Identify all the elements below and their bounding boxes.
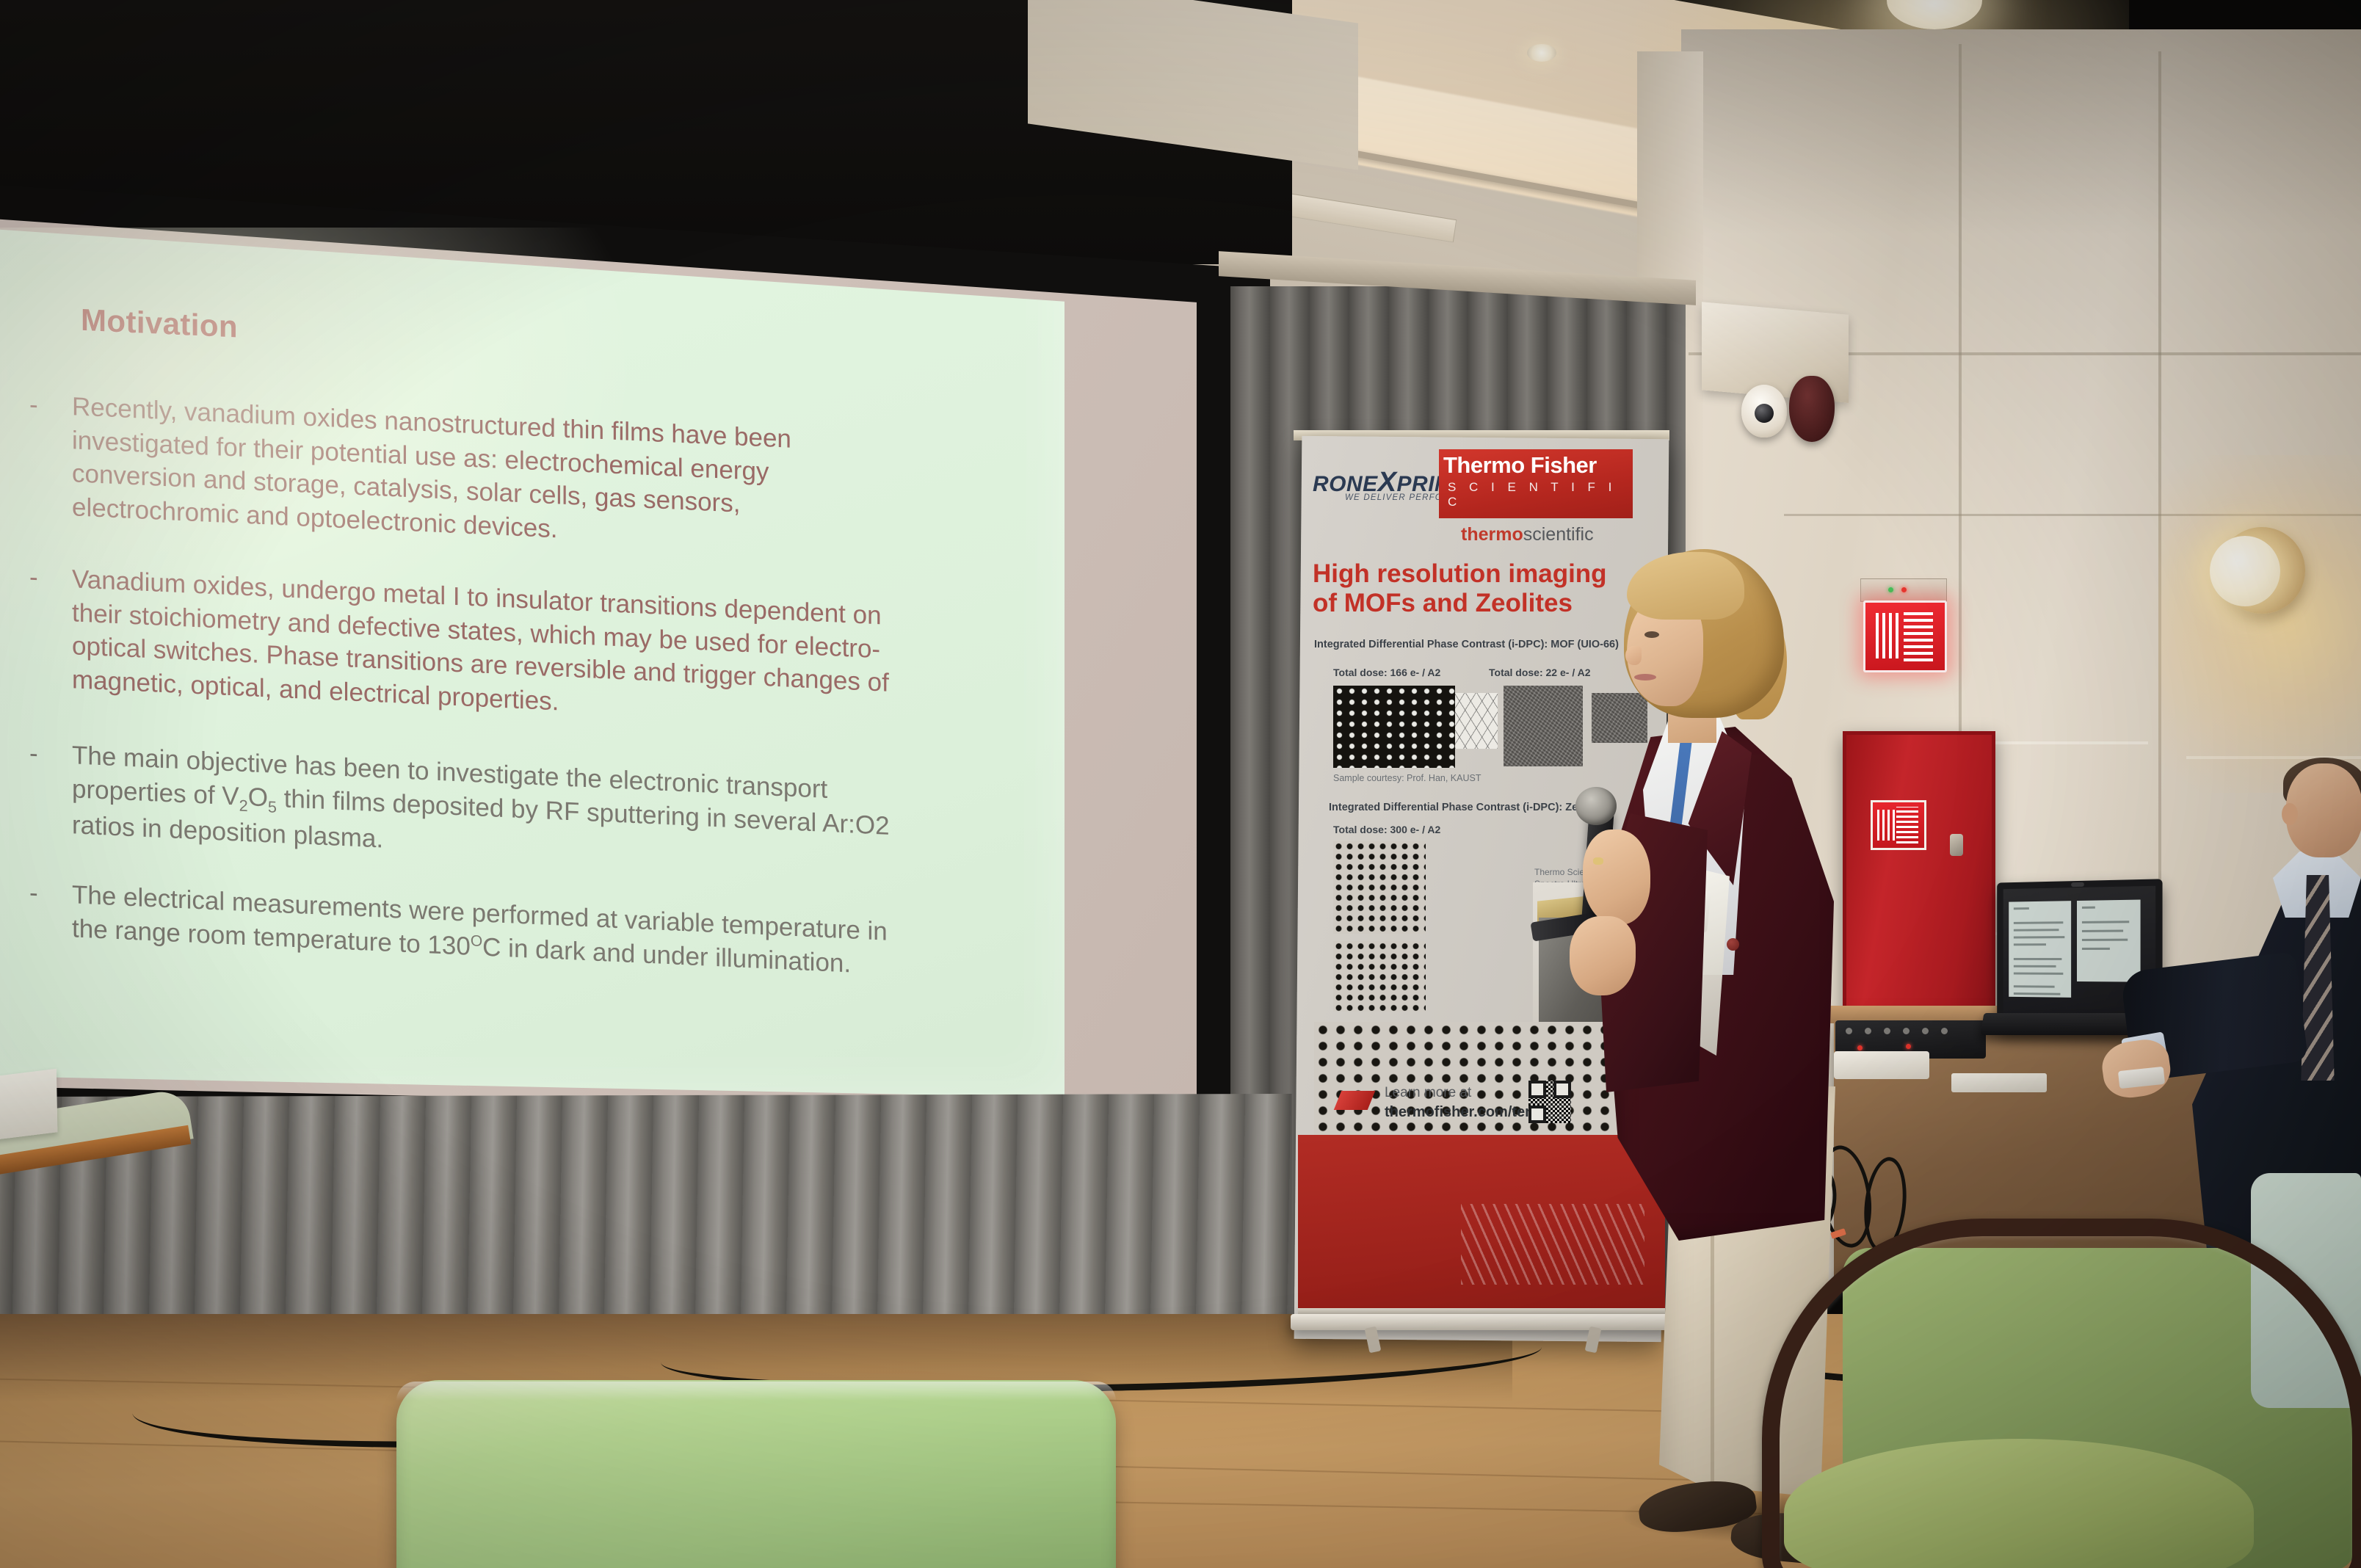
banner-section1-title: Integrated Differential Phase Contrast (…: [1314, 639, 1622, 650]
wall-sconce-icon: [2210, 536, 2280, 606]
speaker-nose: [1625, 646, 1642, 665]
thermofisher-scientific-line: S C I E N T I F I C: [1448, 480, 1631, 509]
wall-panel-seam: [1784, 514, 2361, 516]
jacket-button-icon: [1727, 938, 1739, 951]
bullet-text: The main objective has been to investiga…: [72, 738, 903, 879]
banner-cta-label: Learn more at: [1385, 1085, 1471, 1101]
slide-bullet-main-objective: - The main objective has been to investi…: [29, 737, 903, 879]
bullet-text: Vanadium oxides, undergo metal I to insu…: [72, 562, 892, 733]
speaker-hand-mic: [1583, 830, 1650, 925]
banner-section1-dose-left: Total dose: 166 e- / A2: [1333, 667, 1440, 678]
banner-section1-courtesy: Sample courtesy: Prof. Han, KAUST: [1333, 772, 1481, 785]
thermoscientific-wordmark: thermoscientific: [1461, 524, 1594, 545]
ceiling-light-fixture: [1887, 0, 1982, 29]
fire-hose-reel-sign-icon: [1863, 600, 1947, 672]
microphone-head-icon: [1575, 787, 1617, 825]
thermofisher-wordmark: Thermo Fisher: [1443, 452, 1628, 479]
banner-base-stand: [1291, 1314, 1672, 1330]
micrograph-mof-lowdose: [1504, 686, 1583, 766]
bullet-text: Recently, vanadium oxides nanostructured…: [72, 390, 874, 560]
bullet-text: The electrical measurements were perform…: [72, 878, 918, 983]
cabinet-fire-hose-pictogram-icon: [1871, 800, 1926, 850]
power-strip[interactable]: [1951, 1073, 2047, 1092]
foreground-chair-highlight: [396, 1382, 1116, 1401]
bullet-dash: -: [29, 561, 38, 595]
av-receiver-box: [1834, 1051, 1929, 1079]
wall-top-shadow: [1681, 29, 2361, 235]
wall-wainscot-line: [1982, 741, 2148, 744]
molecular-structure-diagram: [1455, 693, 1498, 749]
ring-icon: [1593, 857, 1603, 865]
slide-bullet-recently: - Recently, vanadium oxides nanostructur…: [29, 388, 874, 560]
qr-code-icon: [1528, 1081, 1571, 1123]
seated-man-ear: [2282, 803, 2298, 825]
camera-lens-icon: [1755, 404, 1774, 423]
table-name-placard: [0, 1069, 57, 1141]
bentwood-chair-frame: [1762, 1219, 2361, 1568]
banner-cta-url: thermofisher.com/tem: [1385, 1104, 1538, 1121]
banner-section1-dose-right: Total dose: 22 e- / A2: [1489, 667, 1590, 678]
laptop-notes-pane: [2009, 901, 2071, 998]
laptop-slide-preview-pane: [2077, 900, 2141, 982]
laptop-webcam-icon: [2071, 882, 2084, 887]
bullet-dash: -: [29, 737, 38, 771]
cabinet-lock-icon: [1950, 834, 1963, 856]
bullet-dash: -: [29, 388, 38, 422]
micrograph-mof-highdose: [1333, 686, 1455, 768]
banner-footer-stripes: [1461, 1204, 1644, 1285]
micrograph-zeolite-1: [1333, 841, 1426, 934]
recessed-downlight-icon: [1527, 44, 1556, 62]
speaker-eye: [1644, 631, 1659, 638]
bullet-dash: -: [29, 876, 38, 910]
micrograph-mof-lowdose-inset: [1592, 693, 1647, 743]
banner-section2-dose: Total dose: 300 e- / A2: [1333, 824, 1440, 835]
status-led-red: [1901, 587, 1907, 592]
banner-headline: High resolution imaging of MOFs and Zeol…: [1313, 559, 1628, 618]
slide-bullet-vanadium-oxides: - Vanadium oxides, undergo metal I to in…: [29, 561, 892, 733]
alarm-sounder-icon: [1789, 376, 1835, 442]
presentation-slide: Motivation - Recently, vanadium oxides n…: [0, 228, 1065, 1097]
slide-bullet-electrical-measurements: - The electrical measurements were perfo…: [29, 876, 918, 984]
banner-zeolite-pattern-band: [1314, 1022, 1644, 1139]
micrograph-zeolite-2: [1333, 941, 1426, 1012]
speaker-hand-clicker: [1570, 916, 1636, 995]
status-led-green: [1888, 587, 1893, 592]
foreground-chair: [396, 1380, 1116, 1568]
conference-room-photo: Motivation - Recently, vanadium oxides n…: [0, 0, 2361, 1568]
slide-title: Motivation: [81, 302, 238, 345]
speaker-lips: [1634, 674, 1656, 680]
